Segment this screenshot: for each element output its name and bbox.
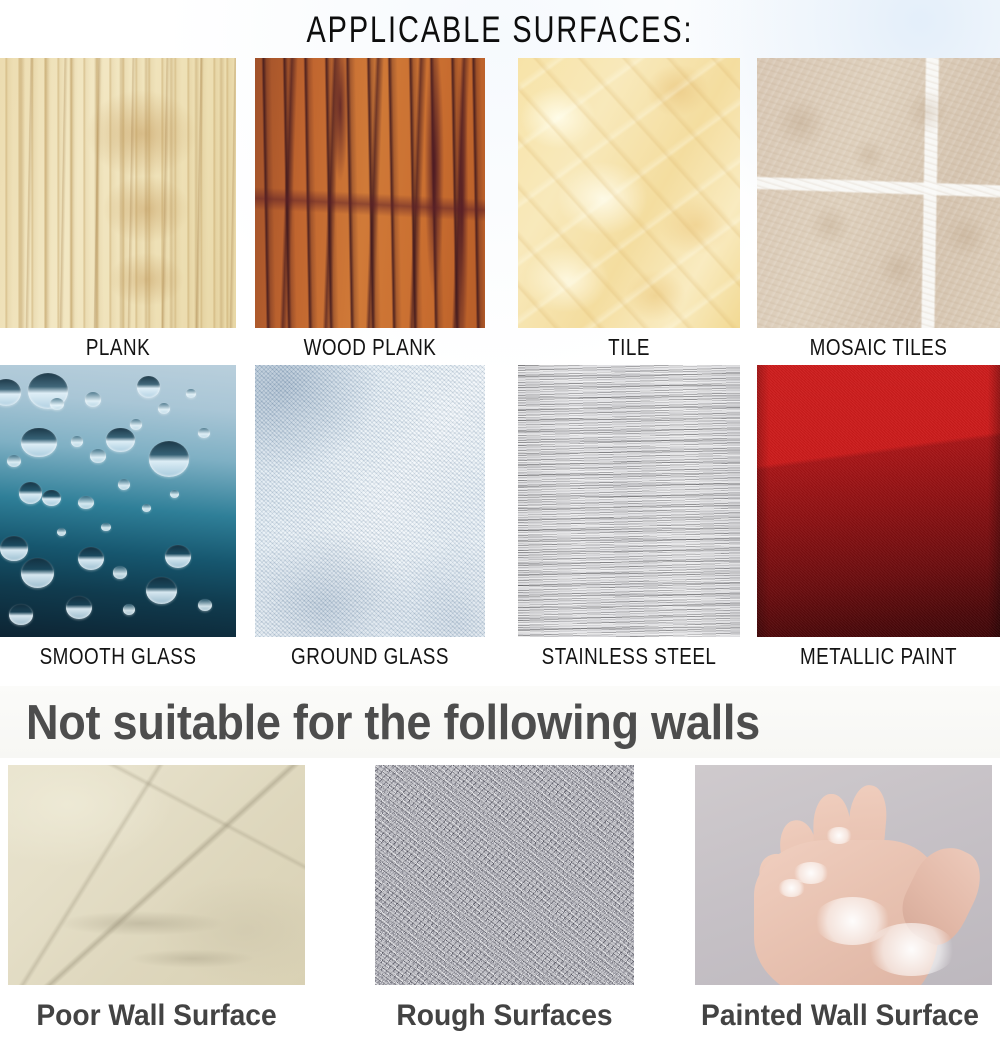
- stainless-steel-swatch-image: [518, 365, 740, 637]
- surface-card-smooth-glass: [0, 365, 236, 637]
- infographic-page: APPLICABLE SURFACES: PLANK WOOD PLANK TI…: [0, 0, 1000, 1041]
- surface-label-smooth-glass: SMOOTH GLASS: [21, 643, 215, 669]
- not-suitable-row: [0, 765, 1000, 985]
- unsuitable-card-rough-surface: [375, 765, 634, 985]
- unsuitable-label-painted-wall: Painted Wall Surface: [690, 998, 991, 1034]
- surface-label-metallic-paint: METALLIC PAINT: [779, 643, 978, 669]
- surface-label-mosaic-tiles: MOSAIC TILES: [779, 334, 978, 360]
- surface-label-ground-glass: GROUND GLASS: [276, 643, 465, 669]
- surface-label-plank: PLANK: [21, 334, 215, 360]
- surface-card-plank: [0, 58, 236, 328]
- surface-label-tile: TILE: [538, 334, 720, 360]
- surface-card-mosaic-tiles: [757, 58, 1000, 328]
- surface-card-tile: [518, 58, 740, 328]
- surface-label-wood-plank: WOOD PLANK: [276, 334, 465, 360]
- tile-swatch-image: [518, 58, 740, 328]
- surface-card-wood-plank: [255, 58, 485, 328]
- surface-card-metallic-paint: [757, 365, 1000, 637]
- mosaic-tiles-swatch-image: [757, 58, 1000, 328]
- grit-overlay: [375, 765, 634, 985]
- unsuitable-card-poor-wall: [8, 765, 305, 985]
- ground-glass-swatch-image: [255, 365, 485, 637]
- painted-wall-surface-image: [695, 765, 992, 985]
- plank-swatch-image: [0, 58, 236, 328]
- applicable-row-2: [0, 365, 1000, 637]
- smooth-glass-swatch-image: [0, 365, 236, 637]
- surface-label-stainless-steel: STAINLESS STEEL: [538, 643, 720, 669]
- page-title: APPLICABLE SURFACES:: [110, 8, 890, 52]
- surface-card-ground-glass: [255, 365, 485, 637]
- poor-wall-surface-image: [8, 765, 305, 985]
- applicable-row-1: [0, 58, 1000, 328]
- hand-illustration: [695, 765, 992, 985]
- unsuitable-card-painted-wall: [695, 765, 992, 985]
- unsuitable-label-rough-surface: Rough Surfaces: [383, 998, 626, 1034]
- wood-plank-swatch-image: [255, 58, 485, 328]
- metallic-paint-swatch-image: [757, 365, 1000, 637]
- paint-residue: [867, 923, 956, 976]
- surface-card-stainless-steel: [518, 365, 740, 637]
- paint-residue: [778, 879, 805, 897]
- unsuitable-label-poor-wall: Poor Wall Surface: [17, 998, 296, 1034]
- not-suitable-heading: Not suitable for the following walls: [26, 694, 760, 752]
- rough-surface-image: [375, 765, 634, 985]
